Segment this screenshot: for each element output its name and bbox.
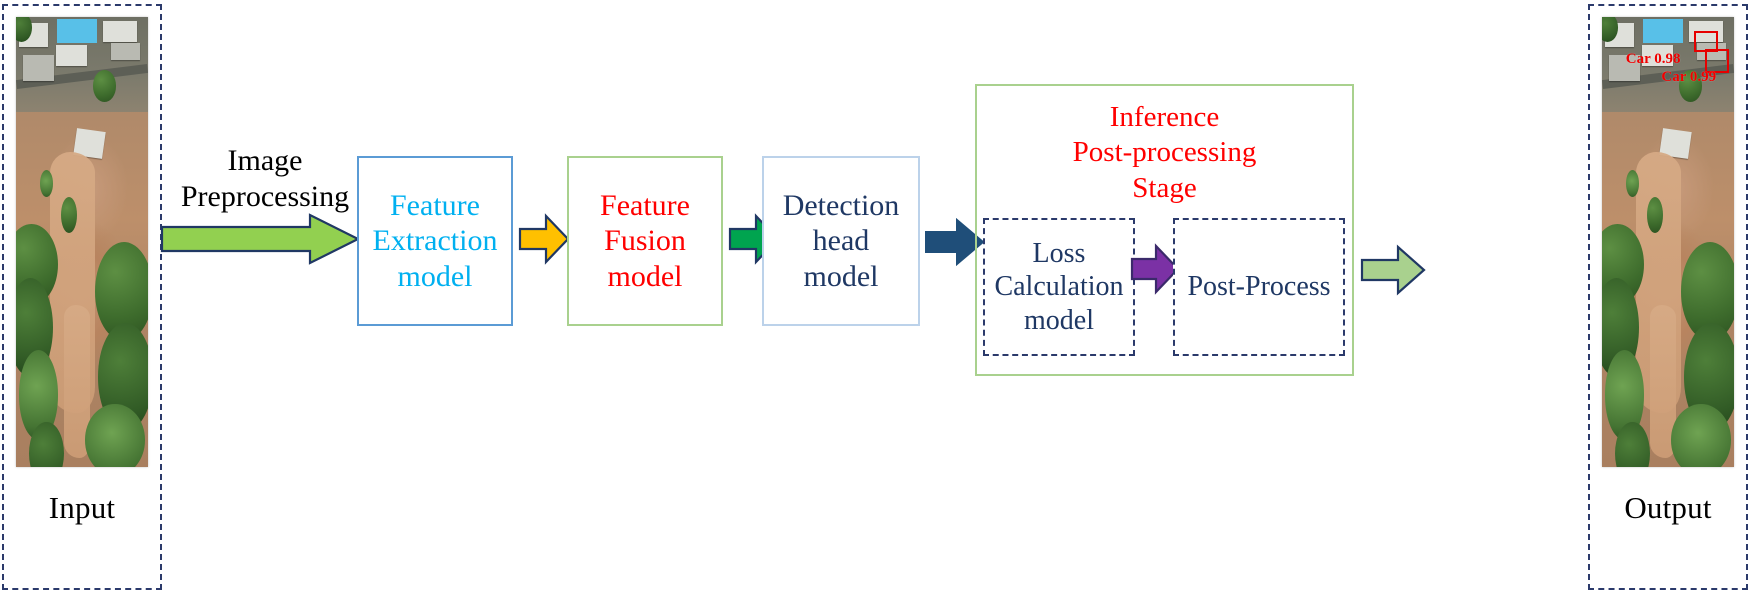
feature-fusion-line1: Feature bbox=[600, 188, 690, 223]
detection-head-line3: model bbox=[783, 259, 900, 294]
blue-roof bbox=[57, 19, 97, 44]
preprocessing-caption-line1: Image bbox=[228, 144, 303, 177]
detection-label-car-2: Car 0.99 bbox=[1661, 69, 1716, 86]
loss-calculation-line2: Calculation bbox=[994, 270, 1123, 303]
feature-extraction-line3: model bbox=[373, 259, 498, 294]
light-green-arrow bbox=[1360, 244, 1426, 296]
loss-calculation-box[interactable]: Loss Calculation model bbox=[983, 218, 1135, 356]
feature-fusion-line2: Fusion bbox=[600, 223, 690, 258]
orange-arrow bbox=[518, 213, 570, 265]
post-process-line1: Post-Process bbox=[1187, 270, 1330, 303]
inference-stage-title-line1: Inference bbox=[977, 100, 1352, 135]
post-process-box[interactable]: Post-Process bbox=[1173, 218, 1345, 356]
loss-calculation-line3: model bbox=[994, 304, 1123, 337]
feature-extraction-line1: Feature bbox=[373, 188, 498, 223]
detection-head-box[interactable]: Detection head model bbox=[762, 156, 920, 326]
blue-roof bbox=[1643, 19, 1683, 44]
output-panel-label: Output bbox=[1590, 490, 1746, 526]
output-panel: Car 0.98 Car 0.99 Output bbox=[1588, 4, 1748, 590]
feature-extraction-line2: Extraction bbox=[373, 223, 498, 258]
output-image: Car 0.98 Car 0.99 bbox=[1602, 17, 1734, 467]
inference-stage-title-line2: Post-processing bbox=[977, 135, 1352, 170]
diagram-canvas: Input Image Preprocessing Feature Extrac… bbox=[0, 0, 1750, 594]
input-panel: Input bbox=[2, 4, 162, 590]
feature-extraction-box[interactable]: Feature Extraction model bbox=[357, 156, 513, 326]
preprocessing-caption-line2: Preprocessing bbox=[181, 180, 349, 213]
inference-stage-title-line3: Stage bbox=[977, 171, 1352, 206]
detection-head-line2: head bbox=[783, 223, 900, 258]
feature-fusion-box[interactable]: Feature Fusion model bbox=[567, 156, 723, 326]
inference-stage-title: Inference Post-processing Stage bbox=[977, 100, 1352, 206]
green-arrow-preprocessing bbox=[160, 213, 360, 265]
input-image bbox=[16, 17, 148, 467]
input-panel-label: Input bbox=[4, 490, 160, 526]
photo-urban-strip bbox=[16, 17, 148, 112]
feature-fusion-line3: model bbox=[600, 259, 690, 294]
preprocessing-caption: Image Preprocessing bbox=[175, 143, 355, 215]
detection-head-line1: Detection bbox=[783, 188, 900, 223]
detection-label-car-1: Car 0.98 bbox=[1626, 51, 1681, 68]
loss-calculation-line1: Loss bbox=[994, 237, 1123, 270]
